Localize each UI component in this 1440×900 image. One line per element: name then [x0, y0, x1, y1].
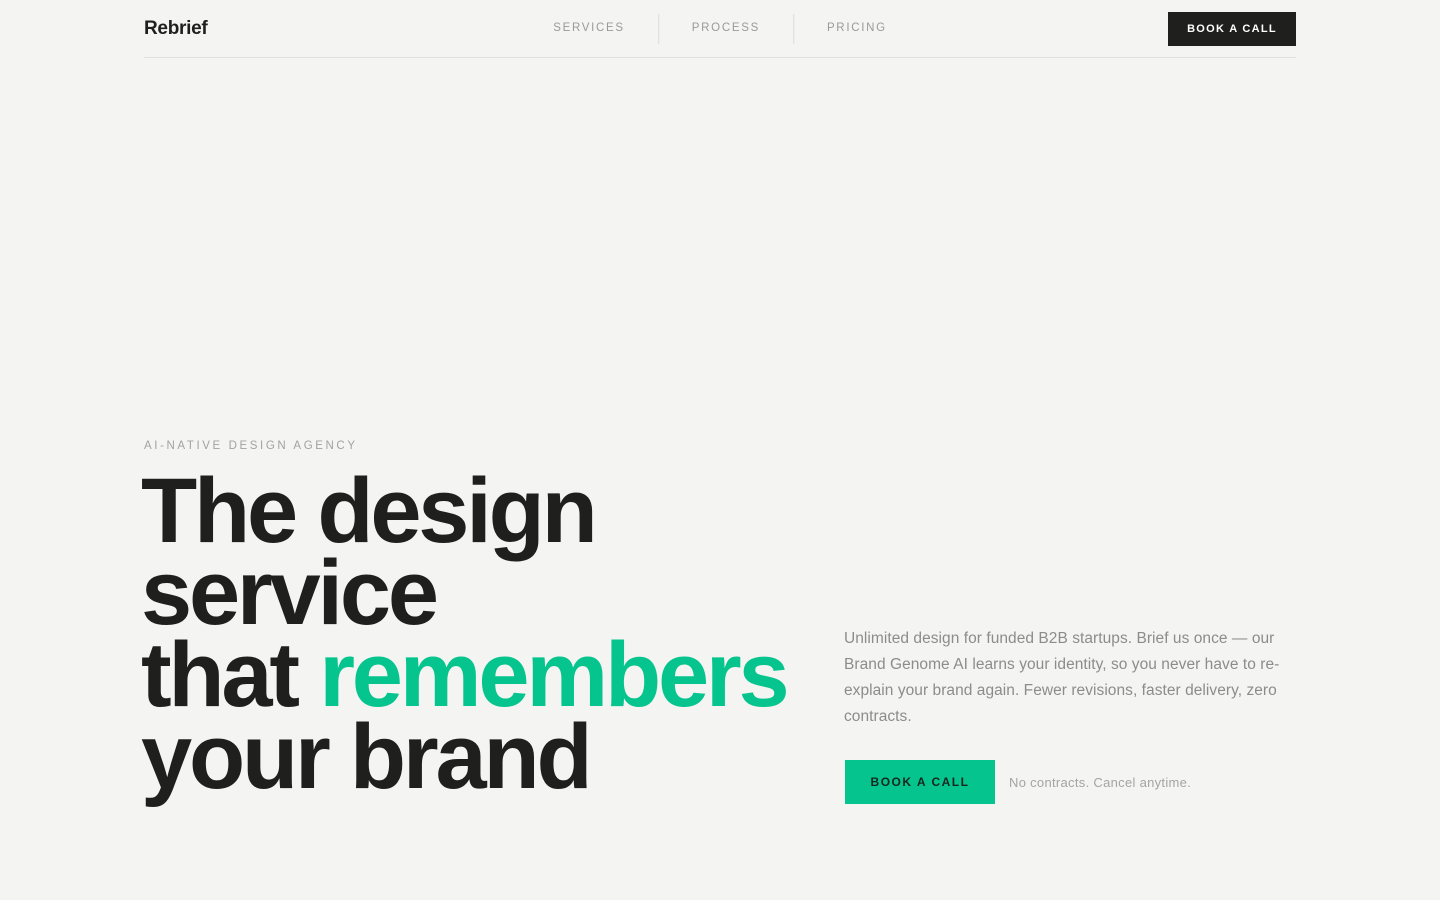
headline-line-4: your brand: [141, 706, 590, 808]
site-header: Rebrief SERVICES PROCESS PRICING BOOK A …: [144, 0, 1296, 58]
header-book-a-call-button[interactable]: BOOK A CALL: [1168, 12, 1296, 46]
hero-eyebrow: AI-NATIVE DESIGN AGENCY: [144, 441, 358, 453]
hero-action-row: BOOK A CALL No contracts. Cancel anytime…: [845, 760, 1191, 804]
hero-cta-note: No contracts. Cancel anytime.: [1009, 775, 1191, 790]
nav-item-pricing[interactable]: PRICING: [794, 23, 920, 35]
primary-nav: SERVICES PROCESS PRICING: [520, 14, 920, 44]
hero-headline: The design service that remembers your b…: [141, 470, 786, 798]
hero-book-a-call-button[interactable]: BOOK A CALL: [845, 760, 995, 804]
brand-logo[interactable]: Rebrief: [144, 19, 207, 38]
hero-description: Unlimited design for funded B2B startups…: [844, 626, 1296, 730]
hero-section: AI-NATIVE DESIGN AGENCY The design servi…: [144, 58, 1296, 900]
nav-item-process[interactable]: PROCESS: [659, 23, 793, 35]
nav-item-services[interactable]: SERVICES: [520, 23, 658, 35]
landing-page: Rebrief SERVICES PROCESS PRICING BOOK A …: [0, 0, 1440, 900]
